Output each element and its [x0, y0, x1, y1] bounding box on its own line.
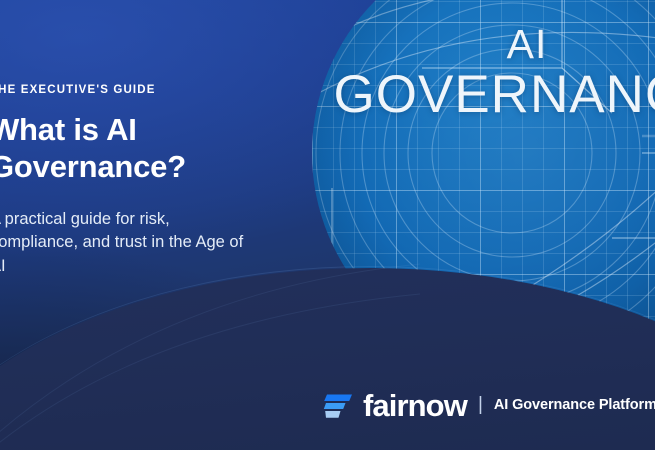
eyebrow-label: THE EXECUTIVE'S GUIDE: [0, 84, 290, 96]
headline-block: THE EXECUTIVE'S GUIDE What is AI Governa…: [0, 84, 290, 278]
fairnow-logo-mark-icon: [323, 393, 353, 420]
footer-branding: fairnow | AI Governance Platform: [323, 391, 655, 422]
cover-graphic: AI GOVERNANCE THE EXECUTIVE'S GUIDE What…: [0, 0, 655, 450]
footer-divider: |: [478, 395, 483, 414]
page-title: What is AI Governance?: [0, 112, 290, 186]
page-title-line1: What is AI: [0, 112, 290, 149]
subtitle-text: A practical guide for risk, compliance, …: [0, 208, 258, 278]
page-title-line2: Governance?: [0, 149, 290, 186]
fairnow-wordmark: fairnow: [363, 390, 467, 421]
footer-tagline: AI Governance Platform: [494, 398, 655, 413]
